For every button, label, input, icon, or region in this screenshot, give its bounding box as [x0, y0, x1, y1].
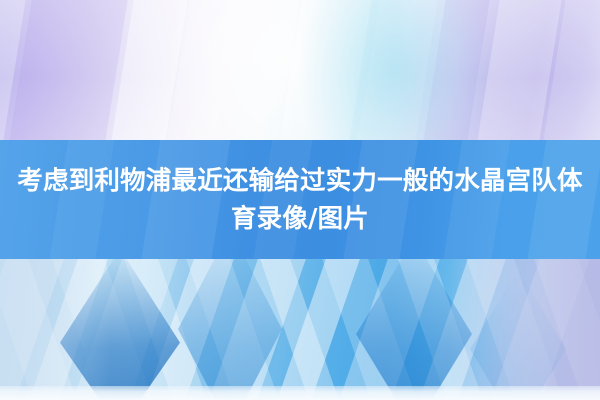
chevron-right-6: [302, 259, 441, 400]
bottom-strip: [0, 386, 600, 400]
top-diagonal-band-3: [104, 0, 194, 140]
top-diagonal-band-2: [2, 0, 134, 140]
bottom-left-fade: [0, 259, 110, 400]
top-white-glow: [170, 0, 400, 140]
chevron-left-9: [468, 259, 600, 400]
bottom-chevron-panel: [0, 259, 600, 400]
deep-blue-diamond-1: [60, 259, 180, 400]
chevron-right-7: [378, 259, 507, 400]
deep-blue-diamond-4: [470, 269, 566, 400]
chevron-left-1: [0, 259, 84, 400]
top-cyan-glow: [300, 0, 490, 140]
headline-band: 考虑到利物浦最近还输给过实力一般的水晶宫队体育录像/图片: [0, 140, 600, 259]
chevron-left-6: [254, 259, 381, 400]
chevron-left-8: [396, 259, 527, 400]
top-diagonal-band-1: [0, 0, 32, 140]
top-diagonal-band-5: [272, 0, 378, 140]
top-diagonal-band-9: [536, 0, 600, 140]
headline-text: 考虑到利物浦最近还输给过实力一般的水晶宫队体育录像/图片: [7, 162, 593, 238]
deep-blue-diamond-3: [356, 259, 472, 400]
bottom-right-lavender-fade: [450, 259, 600, 400]
chevron-left-4: [122, 259, 255, 400]
top-diagonal-band-8: [470, 0, 568, 140]
top-diagonal-band-6: [350, 0, 444, 140]
chevron-right-4: [166, 259, 303, 400]
chevron-right-5: [240, 259, 363, 400]
chevron-right-1: [0, 259, 100, 400]
top-diagonal-band-7: [416, 0, 496, 140]
top-gradient-panel: [0, 0, 600, 140]
chevron-right-2: [32, 259, 177, 400]
deep-blue-diamond-2: [178, 259, 282, 400]
chevron-left-7: [316, 259, 461, 400]
top-diagonal-band-4: [160, 0, 306, 140]
chevron-right-3: [104, 259, 231, 400]
sports-image-banner: 考虑到利物浦最近还输给过实力一般的水晶宫队体育录像/图片: [0, 0, 600, 400]
chevron-left-3: [50, 259, 199, 400]
chevron-left-2: [6, 259, 129, 400]
chevron-left-5: [186, 259, 327, 400]
chevron-right-9: [514, 259, 600, 400]
chevron-right-8: [446, 259, 587, 400]
